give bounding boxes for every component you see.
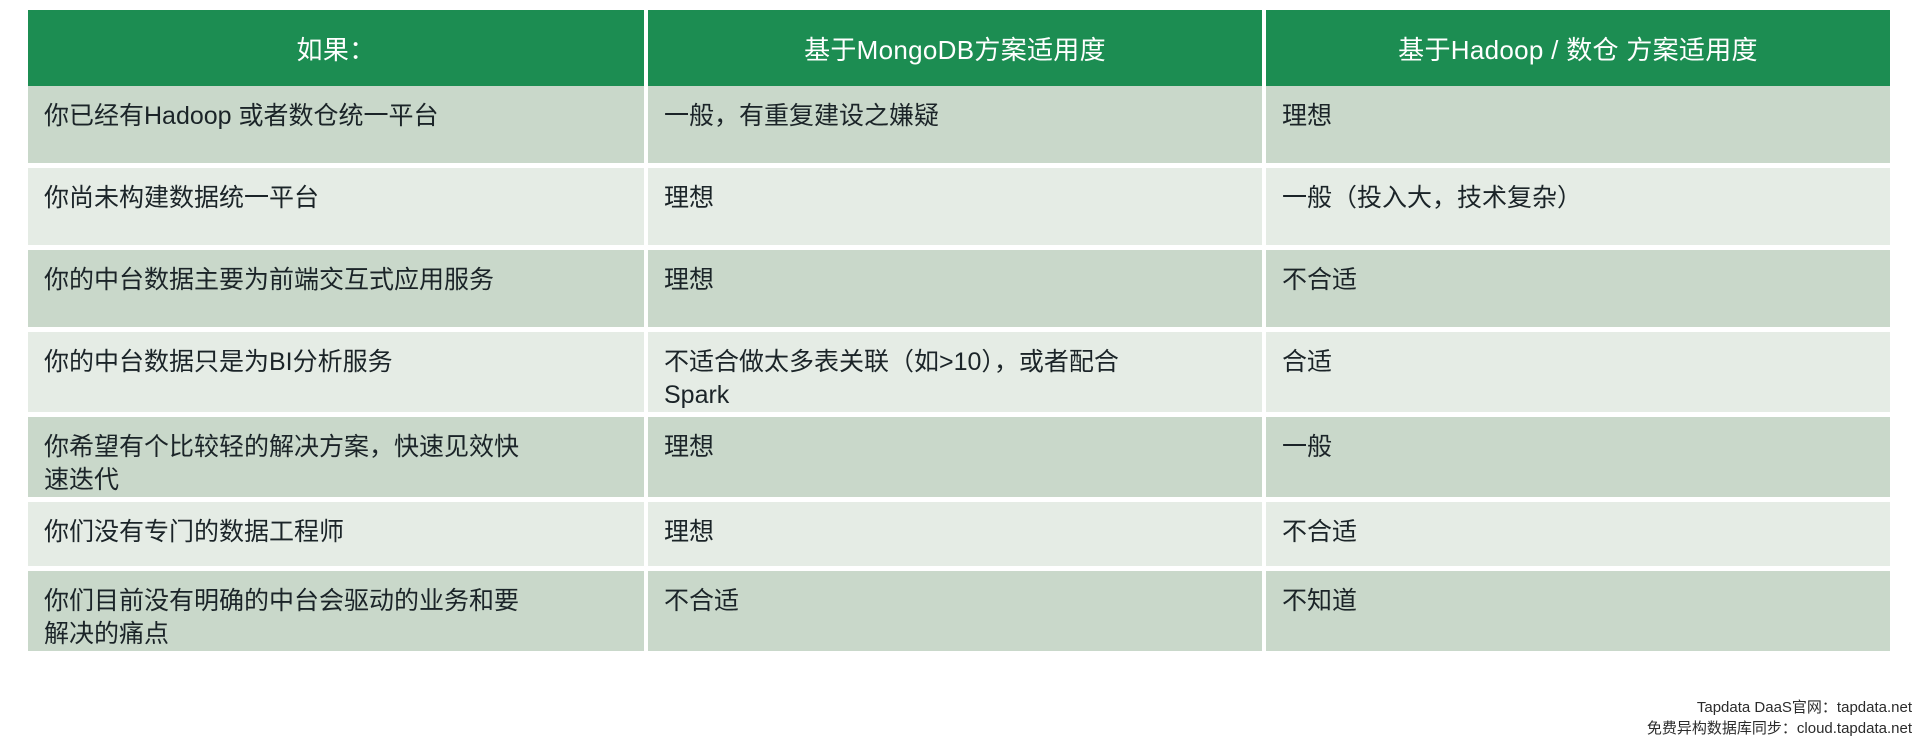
- cell-mongodb: 理想: [648, 417, 1266, 502]
- cell-condition: 你们目前没有明确的中台会驱动的业务和要 解决的痛点: [28, 571, 648, 651]
- cell-mongodb: 一般，有重复建设之嫌疑: [648, 86, 1266, 168]
- column-header-hadoop: 基于Hadoop / 数仓 方案适用度: [1266, 10, 1890, 86]
- column-header-mongodb: 基于MongoDB方案适用度: [648, 10, 1266, 86]
- table-row: 你的中台数据主要为前端交互式应用服务 理想 不合适: [28, 250, 1890, 332]
- table-row: 你尚未构建数据统一平台 理想 一般（投入大，技术复杂）: [28, 168, 1890, 250]
- cell-condition: 你已经有Hadoop 或者数仓统一平台: [28, 86, 648, 168]
- cell-hadoop: 一般: [1266, 417, 1890, 502]
- comparison-table: 如果： 基于MongoDB方案适用度 基于Hadoop / 数仓 方案适用度 你…: [28, 10, 1890, 651]
- cell-condition: 你的中台数据主要为前端交互式应用服务: [28, 250, 648, 332]
- cell-hadoop: 不知道: [1266, 571, 1890, 651]
- table-row: 你的中台数据只是为BI分析服务 不适合做太多表关联（如>10），或者配合 Spa…: [28, 332, 1890, 417]
- cell-mongodb: 理想: [648, 168, 1266, 250]
- cell-hadoop: 合适: [1266, 332, 1890, 417]
- cell-mongodb: 不适合做太多表关联（如>10），或者配合 Spark: [648, 332, 1266, 417]
- watermark: Tapdata DaaS官网：tapdata.net 免费异构数据库同步：clo…: [1647, 697, 1912, 741]
- cell-condition: 你的中台数据只是为BI分析服务: [28, 332, 648, 417]
- watermark-line-cloud-sync: 免费异构数据库同步：cloud.tapdata.net: [1647, 718, 1912, 740]
- cell-condition: 你们没有专门的数据工程师: [28, 502, 648, 571]
- table-header: 如果： 基于MongoDB方案适用度 基于Hadoop / 数仓 方案适用度: [28, 10, 1890, 86]
- cell-hadoop: 一般（投入大，技术复杂）: [1266, 168, 1890, 250]
- cell-mongodb: 理想: [648, 502, 1266, 571]
- cell-hadoop: 不合适: [1266, 250, 1890, 332]
- watermark-line-official-site: Tapdata DaaS官网：tapdata.net: [1647, 697, 1912, 719]
- cell-condition: 你尚未构建数据统一平台: [28, 168, 648, 250]
- table-row: 你已经有Hadoop 或者数仓统一平台 一般，有重复建设之嫌疑 理想: [28, 86, 1890, 168]
- cell-mongodb: 不合适: [648, 571, 1266, 651]
- table-row: 你希望有个比较轻的解决方案，快速见效快 速迭代 理想 一般: [28, 417, 1890, 502]
- cell-mongodb: 理想: [648, 250, 1266, 332]
- cell-hadoop: 理想: [1266, 86, 1890, 168]
- cell-condition: 你希望有个比较轻的解决方案，快速见效快 速迭代: [28, 417, 648, 502]
- table-body: 你已经有Hadoop 或者数仓统一平台 一般，有重复建设之嫌疑 理想 你尚未构建…: [28, 86, 1890, 651]
- cell-hadoop: 不合适: [1266, 502, 1890, 571]
- comparison-table-container: 如果： 基于MongoDB方案适用度 基于Hadoop / 数仓 方案适用度 你…: [28, 10, 1890, 651]
- table-row: 你们目前没有明确的中台会驱动的业务和要 解决的痛点 不合适 不知道: [28, 571, 1890, 651]
- column-header-condition: 如果：: [28, 10, 648, 86]
- table-header-row: 如果： 基于MongoDB方案适用度 基于Hadoop / 数仓 方案适用度: [28, 10, 1890, 86]
- table-row: 你们没有专门的数据工程师 理想 不合适: [28, 502, 1890, 571]
